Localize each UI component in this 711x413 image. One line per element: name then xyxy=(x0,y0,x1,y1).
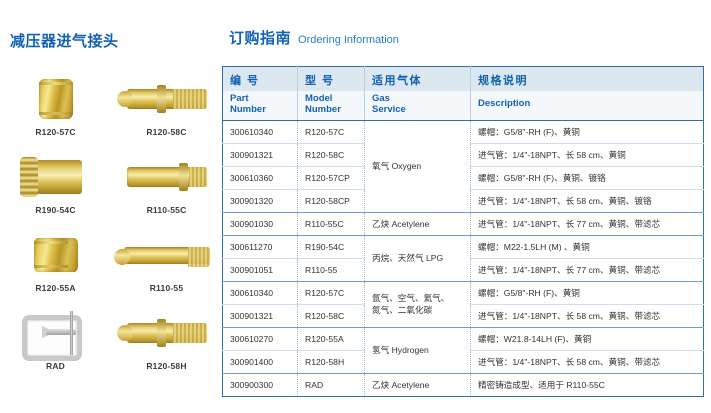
product-row: R120-57C R120-58C xyxy=(0,72,222,150)
cell-part-number: 300901030 xyxy=(223,212,298,235)
table-header: 编 号 型 号 适用气体 规格说明 PartNumber ModelNumber… xyxy=(223,67,704,121)
cell-gas-service: 乙炔 Acetylene xyxy=(365,373,471,396)
product-row: R120-55A R110-55 xyxy=(0,228,222,306)
brass-stem-icon xyxy=(115,72,219,126)
product-label: R120-55A xyxy=(35,283,75,293)
cell-description: 进气管：1/4"-18NPT、长 77 cm、黄铜、带滤芯 xyxy=(471,212,704,235)
product-label: R190-54C xyxy=(35,205,75,215)
product-item-r190-54c[interactable]: R190-54C xyxy=(0,150,111,228)
product-label: R120-58C xyxy=(146,127,186,137)
cell-description: 进气管：1/4"-18NPT、长 58 cm、黄铜、带滤芯 xyxy=(471,350,704,373)
cell-model-number: R110-55C xyxy=(298,212,365,235)
table-row: 300901030R110-55C乙炔 Acetylene进气管：1/4"-18… xyxy=(223,212,704,235)
ordering-title-cn: 订购指南 xyxy=(229,30,291,47)
cell-description: 螺帽：W21.8-14LH (F)、黄铜 xyxy=(471,327,704,350)
cell-model-number: R190-54C xyxy=(298,235,365,258)
brass-body-icon xyxy=(4,150,108,204)
cell-part-number: 300610270 xyxy=(223,327,298,350)
th-part-number-en: PartNumber xyxy=(223,91,298,120)
ordering-information-panel: 订购指南Ordering Information 编 号 型 号 适用气体 规格… xyxy=(222,0,711,413)
cell-model-number: R120-58H xyxy=(298,350,365,373)
cell-model-number: R120-55A xyxy=(298,327,365,350)
ordering-table: 编 号 型 号 适用气体 规格说明 PartNumber ModelNumber… xyxy=(222,66,704,397)
table-row: 300610340R120-57C氧气 Oxygen螺帽：G5/8"-RH (F… xyxy=(223,120,704,143)
cell-model-number: R120-57C xyxy=(298,120,365,143)
table-row: 300900300RAD乙炔 Acetylene精密铸造成型、适用于 R110-… xyxy=(223,373,704,396)
product-label: R120-58H xyxy=(146,361,186,371)
brass-stem-icon xyxy=(115,228,219,282)
th-description-en: Description xyxy=(471,91,704,120)
cell-part-number: 300901400 xyxy=(223,350,298,373)
table-row: 300610340R120-57C氩气、空气、氦气、氮气、二氧化碳螺帽：G5/8… xyxy=(223,281,704,304)
cell-part-number: 300901321 xyxy=(223,143,298,166)
rad-fitting-icon xyxy=(4,306,108,360)
cell-gas-service: 氩气、空气、氦气、氮气、二氧化碳 xyxy=(365,281,471,327)
cell-description: 螺帽：G5/8"-RH (F)、黄铜 xyxy=(471,120,704,143)
product-gallery-panel: 减压器进气接头 R120-57C R120-58C R190-54C xyxy=(0,0,222,413)
th-part-number-cn: 编 号 xyxy=(223,67,298,92)
product-item-r120-58c[interactable]: R120-58C xyxy=(111,72,222,150)
th-model-number-cn: 型 号 xyxy=(298,67,365,92)
cell-part-number: 300610360 xyxy=(223,166,298,189)
brass-stem-icon xyxy=(115,306,219,360)
product-item-r110-55c[interactable]: R110-55C xyxy=(111,150,222,228)
product-label: R110-55C xyxy=(147,205,187,215)
cell-part-number: 300901051 xyxy=(223,258,298,281)
th-description-cn: 规格说明 xyxy=(471,67,704,92)
th-gas-service-cn: 适用气体 xyxy=(365,67,471,92)
cell-part-number: 300610340 xyxy=(223,281,298,304)
brass-nut-icon xyxy=(4,228,108,282)
product-row: R190-54C R110-55C xyxy=(0,150,222,228)
cell-part-number: 300610340 xyxy=(223,120,298,143)
cell-part-number: 300900300 xyxy=(223,373,298,396)
product-row: RAD R120-58H xyxy=(0,306,222,384)
product-item-r110-55[interactable]: R110-55 xyxy=(111,228,222,306)
table-row: 300611270R190-54C丙烷、天然气 LPG螺帽：M22-1.5LH … xyxy=(223,235,704,258)
product-label: R120-57C xyxy=(35,127,75,137)
cell-gas-service: 丙烷、天然气 LPG xyxy=(365,235,471,281)
cell-model-number: R120-57C xyxy=(298,281,365,304)
table-row: 300610270R120-55A氢气 Hydrogen螺帽：W21.8-14L… xyxy=(223,327,704,350)
product-label: RAD xyxy=(46,361,65,371)
ordering-title-en: Ordering Information xyxy=(298,34,399,46)
cell-model-number: RAD xyxy=(298,373,365,396)
cell-gas-service: 氧气 Oxygen xyxy=(365,120,471,212)
product-item-r120-57c[interactable]: R120-57C xyxy=(0,72,111,150)
ordering-heading: 订购指南Ordering Information xyxy=(229,27,399,48)
cell-description: 螺帽：M22-1.5LH (M) 、黄铜 xyxy=(471,235,704,258)
product-item-r120-55a[interactable]: R120-55A xyxy=(0,228,111,306)
product-item-r120-58h[interactable]: R120-58H xyxy=(111,306,222,384)
cell-gas-service: 氢气 Hydrogen xyxy=(365,327,471,373)
product-item-rad[interactable]: RAD xyxy=(0,306,111,384)
product-label: R110-55 xyxy=(150,283,184,293)
brass-nut-icon xyxy=(4,72,108,126)
cell-description: 精密铸造成型、适用于 R110-55C xyxy=(471,373,704,396)
cell-model-number: R120-58C xyxy=(298,304,365,327)
cell-model-number: R120-58C xyxy=(298,143,365,166)
table-header-row-cn: 编 号 型 号 适用气体 规格说明 xyxy=(223,67,704,92)
table-header-row-en: PartNumber ModelNumber GasService Descri… xyxy=(223,91,704,120)
cell-description: 螺帽：G5/8"-RH (F)、黄铜、镀铬 xyxy=(471,166,704,189)
brass-stem-icon xyxy=(115,150,219,204)
cell-gas-service: 乙炔 Acetylene xyxy=(365,212,471,235)
cell-description: 进气管：1/4"-18NPT、长 58 cm、黄铜、带滤芯 xyxy=(471,304,704,327)
cell-part-number: 300901320 xyxy=(223,189,298,212)
cell-description: 螺帽：G5/8"-RH (F)、黄铜 xyxy=(471,281,704,304)
th-gas-service-en: GasService xyxy=(365,91,471,120)
cell-description: 进气管：1/4"-18NPT、长 58 cm、黄铜、镀铬 xyxy=(471,189,704,212)
cell-model-number: R120-57CP xyxy=(298,166,365,189)
th-model-number-en: ModelNumber xyxy=(298,91,365,120)
cell-model-number: R120-58CP xyxy=(298,189,365,212)
product-grid: R120-57C R120-58C R190-54C R110-55C xyxy=(0,72,222,384)
cell-part-number: 300901321 xyxy=(223,304,298,327)
cell-part-number: 300611270 xyxy=(223,235,298,258)
cell-model-number: R110-55 xyxy=(298,258,365,281)
table-body: 300610340R120-57C氧气 Oxygen螺帽：G5/8"-RH (F… xyxy=(223,120,704,396)
cell-description: 进气管：1/4"-18NPT、长 77 cm、黄铜、带滤芯 xyxy=(471,258,704,281)
page-title: 减压器进气接头 xyxy=(10,30,119,51)
cell-description: 进气管：1/4"-18NPT、长 58 cm、黄铜 xyxy=(471,143,704,166)
